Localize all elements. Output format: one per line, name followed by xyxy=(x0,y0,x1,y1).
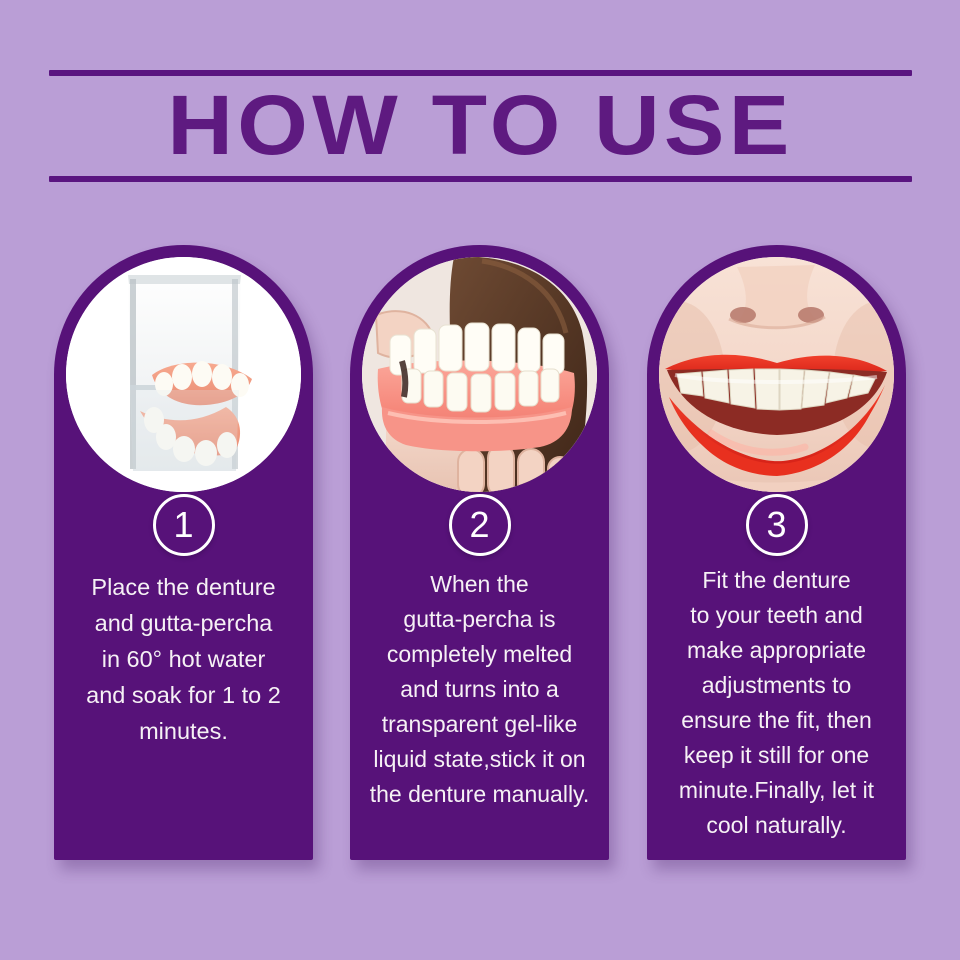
step-card-2: 2 When the gutta-percha is completely me… xyxy=(350,245,609,860)
denture-in-glass-of-water-photo xyxy=(66,257,301,492)
step-number-badge: 2 xyxy=(449,494,511,556)
step-description: Fit the denture to your teeth and make a… xyxy=(655,563,898,843)
step-description: Place the denture and gutta-percha in 60… xyxy=(62,569,305,749)
step-card-3: 3 Fit the denture to your teeth and make… xyxy=(647,245,906,860)
step-number-badge: 3 xyxy=(746,494,808,556)
hand-holding-denture-photo xyxy=(362,257,597,492)
step-card-1: 1 Place the denture and gutta-percha in … xyxy=(54,245,313,860)
step-number-badge: 1 xyxy=(153,494,215,556)
how-to-use-infographic: HOW TO USE xyxy=(0,0,960,960)
smiling-mouth-with-red-lipstick-photo xyxy=(659,257,894,492)
step-description: When the gutta-percha is completely melt… xyxy=(358,567,601,812)
steps-container: 1 Place the denture and gutta-percha in … xyxy=(0,0,960,960)
